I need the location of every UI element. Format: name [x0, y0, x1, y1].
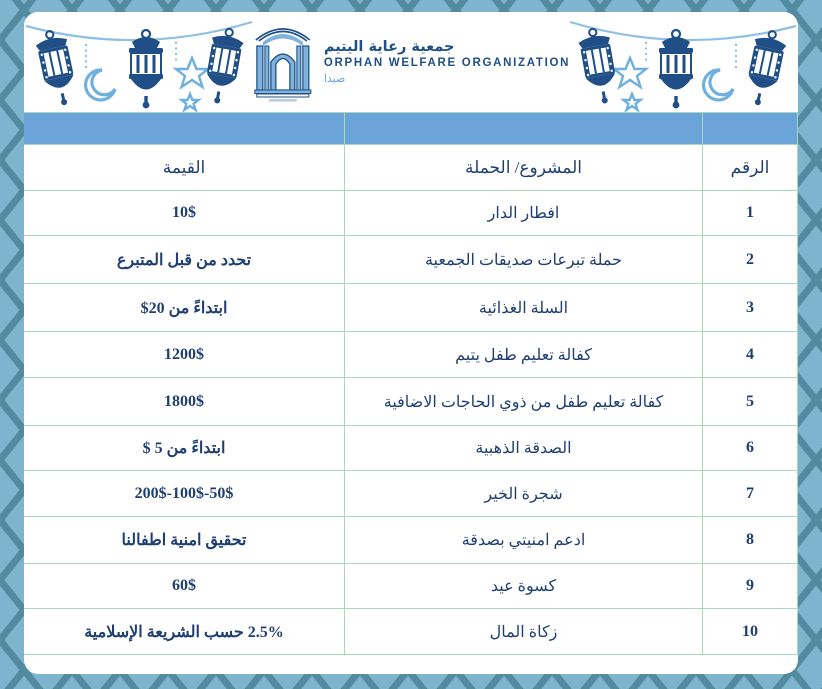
flyer-card: جمعية رعاية اليتيم ORPHAN WELFARE ORGANI… [24, 12, 798, 674]
row-project: افطار الدار [345, 191, 703, 236]
row-number: 9 [703, 564, 798, 609]
header-banner: جمعية رعاية اليتيم ORPHAN WELFARE ORGANI… [24, 12, 798, 112]
row-value: 60$ [24, 564, 345, 609]
row-number: 7 [703, 471, 798, 517]
table-row: 7 شجرة الخير 50$-100$-200$ [24, 471, 798, 517]
org-city-arabic: صيدا [324, 73, 570, 86]
row-project: كسوة عيد [345, 564, 703, 609]
row-project: زكاة المال [345, 609, 703, 655]
table-row: 9 كسوة عيد 60$ [24, 564, 798, 609]
campaign-price-table: الرقم المشروع/ الحملة القيمة 1 افطار الد… [24, 112, 798, 655]
row-value: تحقيق امنية اطفالنا [24, 517, 345, 564]
row-project: الصدقة الذهبية [345, 426, 703, 471]
table-row: 10 زكاة المال 2.5% حسب الشريعة الإسلامية [24, 609, 798, 655]
row-value: 2.5% حسب الشريعة الإسلامية [24, 609, 345, 655]
header-band-value-cell [24, 113, 345, 145]
mosque-arch-emblem-icon [252, 20, 314, 104]
row-number: 4 [703, 332, 798, 378]
row-project: شجرة الخير [345, 471, 703, 517]
table-row: 8 ادعم امنيتي بصدقة تحقيق امنية اطفالنا [24, 517, 798, 564]
column-header-value: القيمة [24, 145, 345, 191]
table-header-band [24, 113, 798, 145]
row-value: تحدد من قبل المتبرع [24, 236, 345, 284]
table-row: 2 حملة تبرعات صديقات الجمعية تحدد من قبل… [24, 236, 798, 284]
header-band-project-cell [345, 113, 703, 145]
ramadan-lanterns-garland-right-icon [568, 12, 798, 112]
row-value: ابتداءً من 20$ [24, 284, 345, 332]
row-number: 10 [703, 609, 798, 655]
row-project: كفالة تعليم طفل يتيم [345, 332, 703, 378]
organization-name-block: جمعية رعاية اليتيم ORPHAN WELFARE ORGANI… [324, 39, 570, 86]
table-row: 6 الصدقة الذهبية ابتداءً من 5 $ [24, 426, 798, 471]
crescent-moon-icon [86, 70, 115, 100]
ramadan-lanterns-garland-left-icon [24, 12, 254, 112]
table-row: 1 افطار الدار 10$ [24, 191, 798, 236]
organization-branding: جمعية رعاية اليتيم ORPHAN WELFARE ORGANI… [252, 20, 570, 104]
row-project: حملة تبرعات صديقات الجمعية [345, 236, 703, 284]
star-icon [176, 58, 208, 110]
row-number: 5 [703, 378, 798, 426]
header-band-number-cell [703, 113, 798, 145]
row-value: 1800$ [24, 378, 345, 426]
row-value: 10$ [24, 191, 345, 236]
row-project: السلة الغذائية [345, 284, 703, 332]
row-number: 8 [703, 517, 798, 564]
table-row: 4 كفالة تعليم طفل يتيم 1200$ [24, 332, 798, 378]
row-project: ادعم امنيتي بصدقة [345, 517, 703, 564]
row-value: ابتداءً من 5 $ [24, 426, 345, 471]
row-number: 3 [703, 284, 798, 332]
column-header-number: الرقم [703, 145, 798, 191]
table-row: 5 كفالة تعليم طفل من ذوي الحاجات الاضافي… [24, 378, 798, 426]
table-column-headers: الرقم المشروع/ الحملة القيمة [24, 145, 798, 191]
org-name-arabic: جمعية رعاية اليتيم [324, 39, 570, 56]
org-name-english: ORPHAN WELFARE ORGANIZATION [324, 57, 570, 70]
table-row: 3 السلة الغذائية ابتداءً من 20$ [24, 284, 798, 332]
row-value: 1200$ [24, 332, 345, 378]
row-number: 2 [703, 236, 798, 284]
row-value: 50$-100$-200$ [24, 471, 345, 517]
row-number: 6 [703, 426, 798, 471]
row-number: 1 [703, 191, 798, 236]
row-project: كفالة تعليم طفل من ذوي الحاجات الاضافية [345, 378, 703, 426]
column-header-project: المشروع/ الحملة [345, 145, 703, 191]
